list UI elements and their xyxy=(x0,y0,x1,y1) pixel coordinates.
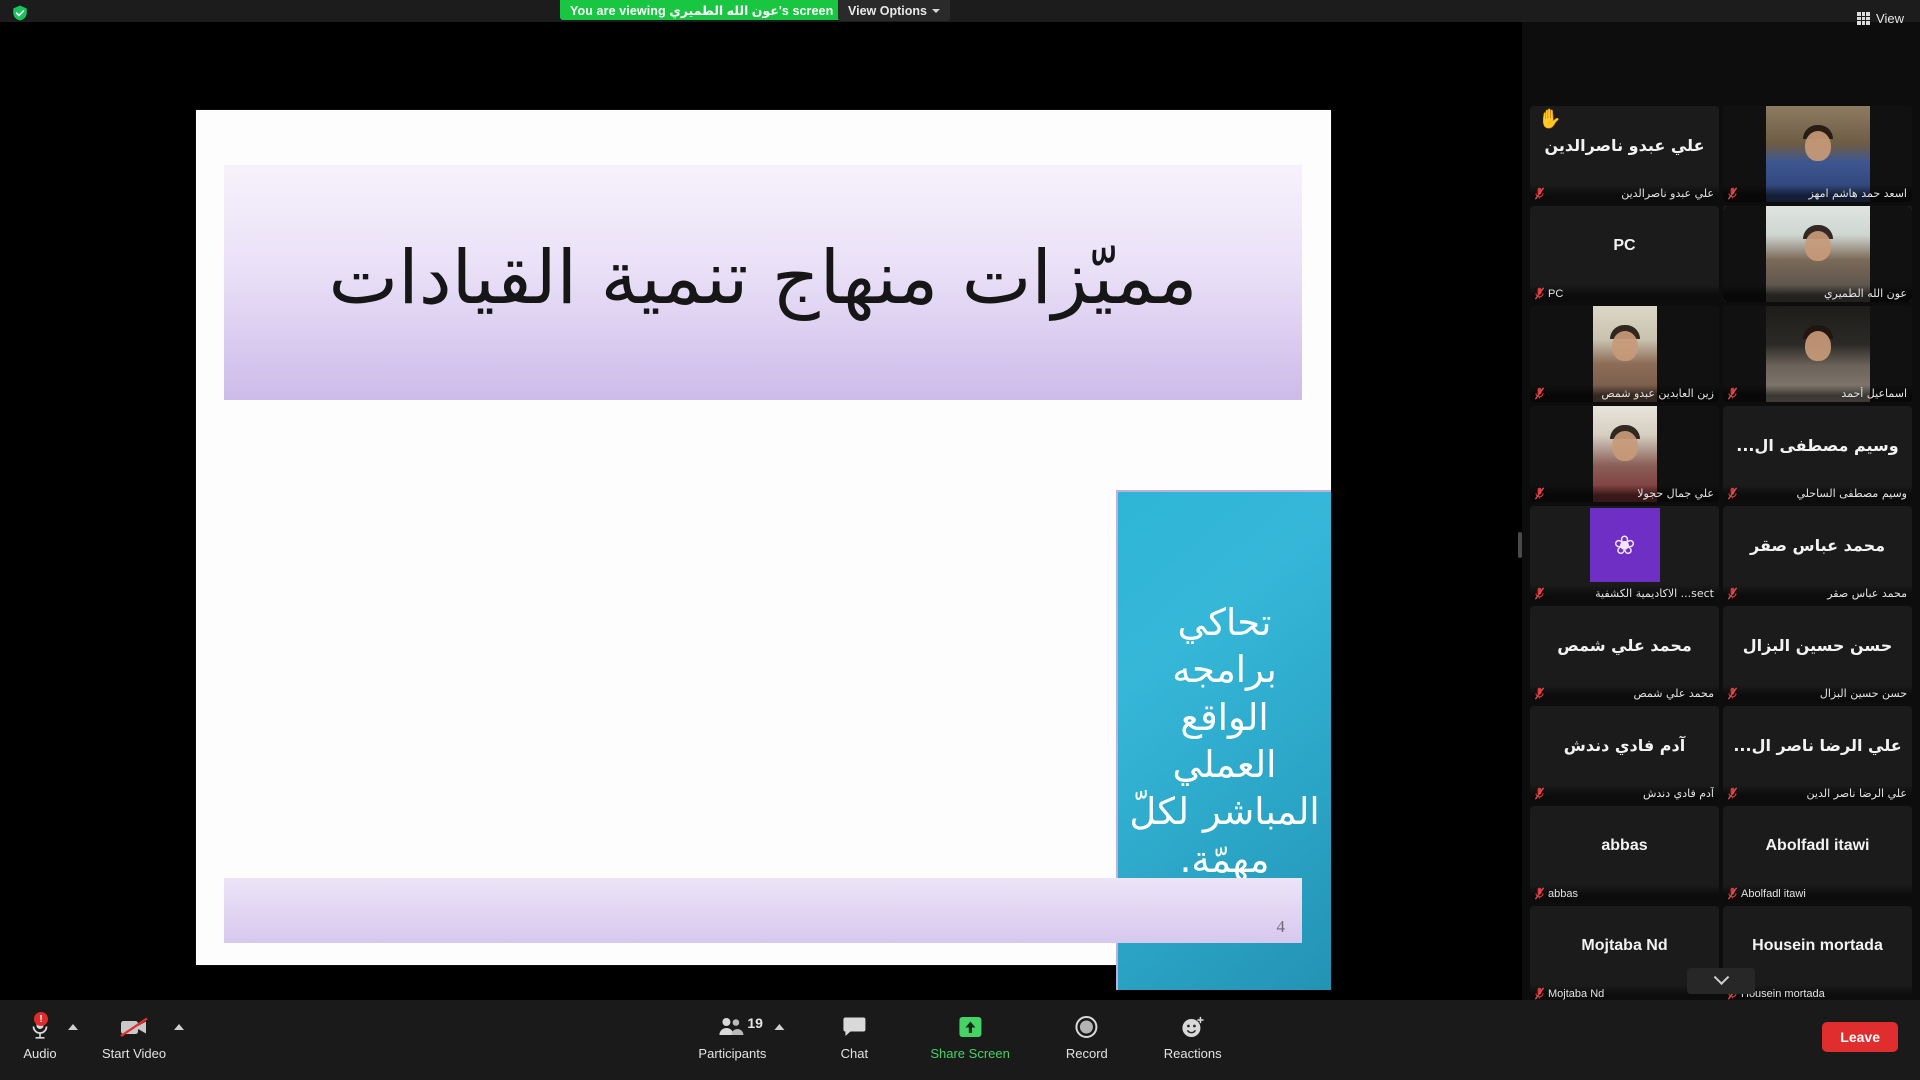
chat-bubble-icon xyxy=(841,1012,867,1042)
microphone-muted-icon xyxy=(1535,787,1544,800)
participants-options-caret-icon[interactable] xyxy=(774,1024,784,1030)
audio-label: Audio xyxy=(23,1046,56,1061)
reactions-smiley-icon xyxy=(1180,1012,1206,1042)
meeting-toolbar: ! Audio Start Video xyxy=(0,1000,1920,1080)
microphone-muted-icon xyxy=(1535,687,1544,700)
slide-callout-text: تحاكي برامجه الواقع العملي المباشر لكلّ … xyxy=(1118,585,1331,897)
avatar-shape xyxy=(1805,231,1831,261)
leave-button[interactable]: Leave xyxy=(1822,1022,1898,1052)
microphone-muted-icon xyxy=(1535,187,1544,200)
microphone-muted-icon xyxy=(1535,587,1544,600)
microphone-muted-icon xyxy=(1728,587,1737,600)
chevron-down-icon xyxy=(932,9,940,13)
participant-tile-grid: علي عبدو ناصرالدين✋علي عبدو ناصرالديناسع… xyxy=(1530,106,1912,1002)
participant-tile-footer: محمد علي شمص xyxy=(1530,685,1719,702)
zoom-meeting-window: You are viewing عون الله الطميري's scree… xyxy=(0,0,1920,1080)
share-screen-button[interactable]: Share Screen xyxy=(924,1008,1016,1065)
view-layout-button[interactable]: View xyxy=(1851,8,1910,29)
scout-academy-logo-icon: ❀ xyxy=(1614,532,1636,558)
participants-count: 19 xyxy=(747,1015,763,1031)
participant-tile[interactable]: ❀sect... الاكاديمية الكشفية xyxy=(1530,506,1719,602)
participant-tile-footer: عون الله الطميري xyxy=(1723,285,1912,302)
participant-name: اسعد حمد هاشم امهز xyxy=(1741,187,1907,200)
participant-name: علي الرضا ناصر الدين xyxy=(1741,787,1907,800)
microphone-muted-icon xyxy=(1535,287,1544,300)
reactions-button[interactable]: Reactions xyxy=(1158,1008,1228,1065)
participant-name: PC xyxy=(1548,288,1714,300)
participant-tile[interactable]: عون الله الطميري xyxy=(1723,206,1912,302)
audio-control-group: ! Audio xyxy=(14,1008,78,1065)
microphone-muted-icon xyxy=(1728,887,1737,900)
audio-options-caret-icon[interactable] xyxy=(68,1024,78,1030)
avatar-shape xyxy=(1805,131,1831,161)
participant-tile[interactable]: محمد عباس صقرمحمد عباس صقر xyxy=(1723,506,1912,602)
top-bar: You are viewing عون الله الطميري's scree… xyxy=(0,0,1920,22)
record-button[interactable]: Record xyxy=(1060,1008,1114,1065)
participant-tile[interactable]: وسيم مصطفى ال...وسيم مصطفى الساحلي xyxy=(1723,406,1912,502)
microphone-muted-icon xyxy=(1535,987,1544,1000)
record-circle-icon xyxy=(1075,1012,1099,1042)
participant-name: abbas xyxy=(1548,888,1714,900)
share-screen-icon xyxy=(956,1012,984,1042)
video-off-icon xyxy=(118,1012,150,1042)
slide-canvas: مميّزات منهاج تنمية القيادات تحاكي برامج… xyxy=(196,110,1331,965)
slide-title-band: مميّزات منهاج تنمية القيادات xyxy=(224,165,1302,400)
microphone-muted-icon xyxy=(1728,787,1737,800)
participant-tile-footer: Abolfadl itawi xyxy=(1723,885,1912,902)
presentation-slide: مميّزات منهاج تنمية القيادات تحاكي برامج… xyxy=(196,110,1331,965)
raised-hand-icon: ✋ xyxy=(1538,110,1562,129)
filmstrip-scroll-down-button[interactable] xyxy=(1687,968,1755,994)
participant-tile[interactable]: زين العابدين عبدو شمص xyxy=(1530,306,1719,402)
view-options-label: View Options xyxy=(848,4,927,18)
participant-tile[interactable]: محمد علي شمصمحمد علي شمص xyxy=(1530,606,1719,702)
avatar-shape xyxy=(1612,431,1638,461)
microphone-muted-icon xyxy=(1728,187,1737,200)
participants-button[interactable]: 19 Participants xyxy=(692,1008,772,1065)
video-control-group: Start Video xyxy=(96,1008,184,1065)
participant-tile-footer: آدم فادي دندش xyxy=(1530,785,1719,802)
microphone-muted-icon xyxy=(1728,687,1737,700)
reactions-label: Reactions xyxy=(1164,1046,1222,1061)
participants-control-group: 19 Participants xyxy=(692,1008,784,1065)
participant-name: sect... الاكاديمية الكشفية xyxy=(1548,587,1714,600)
slide-title: مميّزات منهاج تنمية القيادات xyxy=(224,165,1302,400)
microphone-muted-icon: ! xyxy=(28,1012,52,1042)
record-label: Record xyxy=(1066,1046,1108,1061)
participant-name: Housein mortada xyxy=(1741,988,1907,1000)
microphone-muted-icon xyxy=(1728,487,1737,500)
participant-tile-footer: sect... الاكاديمية الكشفية xyxy=(1530,585,1719,602)
avatar-shape xyxy=(1805,331,1831,361)
participant-tile-footer: علي جمال حجولا xyxy=(1530,485,1719,502)
participant-name: محمد علي شمص xyxy=(1548,687,1714,700)
video-options-caret-icon[interactable] xyxy=(174,1024,184,1030)
participant-tile[interactable]: حسن حسين البزالحسن حسين البزال xyxy=(1723,606,1912,702)
participant-name: Abolfadl itawi xyxy=(1741,888,1907,900)
chat-label: Chat xyxy=(841,1046,868,1061)
participant-tile[interactable]: علي جمال حجولا xyxy=(1530,406,1719,502)
microphone-muted-icon xyxy=(1728,387,1737,400)
participant-tile-footer: محمد عباس صقر xyxy=(1723,585,1912,602)
participant-name: اسماعيل أحمد xyxy=(1741,387,1907,400)
participant-name: علي عبدو ناصرالدين xyxy=(1548,187,1714,200)
view-layout-label: View xyxy=(1876,11,1904,26)
participant-tile-footer: PC xyxy=(1530,285,1719,302)
start-video-button[interactable]: Start Video xyxy=(96,1008,172,1065)
microphone-muted-icon xyxy=(1535,487,1544,500)
slide-number: 4 xyxy=(1277,917,1286,937)
view-options-button[interactable]: View Options xyxy=(838,0,950,21)
participant-tile[interactable]: اسماعيل أحمد xyxy=(1723,306,1912,402)
participant-logo-avatar: ❀ xyxy=(1590,508,1660,582)
chat-button[interactable]: Chat xyxy=(828,1008,880,1065)
viewing-screen-banner-text: You are viewing عون الله الطميري's scree… xyxy=(570,3,833,18)
participants-icon: 19 xyxy=(717,1012,747,1042)
participant-name: عون الله الطميري xyxy=(1728,287,1907,300)
slide-footer-band xyxy=(224,878,1302,943)
participant-tile[interactable]: abbasabbas xyxy=(1530,806,1719,902)
grid-icon xyxy=(1857,12,1870,25)
avatar-shape xyxy=(1612,331,1638,361)
participant-tile[interactable]: علي الرضا ناصر ال...علي الرضا ناصر الدين xyxy=(1723,706,1912,802)
participant-tile[interactable]: علي عبدو ناصرالدين✋علي عبدو ناصرالدين xyxy=(1530,106,1719,202)
share-screen-label: Share Screen xyxy=(930,1046,1010,1061)
participant-tile[interactable]: Abolfadl itawiAbolfadl itawi xyxy=(1723,806,1912,902)
participant-tile-footer: حسن حسين البزال xyxy=(1723,685,1912,702)
audio-alert-badge: ! xyxy=(34,1012,48,1026)
participant-name: محمد عباس صقر xyxy=(1741,587,1907,600)
participant-tile-footer: اسماعيل أحمد xyxy=(1723,385,1912,402)
audio-button[interactable]: ! Audio xyxy=(14,1008,66,1065)
participant-filmstrip[interactable]: علي عبدو ناصرالدين✋علي عبدو ناصرالديناسع… xyxy=(1522,22,1920,1000)
participant-tile-footer: abbas xyxy=(1530,885,1719,902)
viewing-screen-banner: You are viewing عون الله الطميري's scree… xyxy=(560,0,843,20)
participant-name: وسيم مصطفى الساحلي xyxy=(1741,487,1907,500)
participant-name: زين العابدين عبدو شمص xyxy=(1548,387,1714,400)
participant-name: آدم فادي دندش xyxy=(1548,787,1714,800)
encryption-shield-icon[interactable] xyxy=(10,4,30,22)
microphone-muted-icon xyxy=(1535,887,1544,900)
start-video-label: Start Video xyxy=(102,1046,166,1061)
shared-screen-stage[interactable]: مميّزات منهاج تنمية القيادات تحاكي برامج… xyxy=(0,22,1522,1000)
participant-name: حسن حسين البزال xyxy=(1741,687,1907,700)
participant-tile[interactable]: آدم فادي دندشآدم فادي دندش xyxy=(1530,706,1719,802)
participant-name: علي جمال حجولا xyxy=(1548,487,1714,500)
participants-label: Participants xyxy=(698,1046,766,1061)
participant-tile-footer: وسيم مصطفى الساحلي xyxy=(1723,485,1912,502)
participant-tile-footer: اسعد حمد هاشم امهز xyxy=(1723,185,1912,202)
participant-tile-footer: زين العابدين عبدو شمص xyxy=(1530,385,1719,402)
participant-tile-footer: علي الرضا ناصر الدين xyxy=(1723,785,1912,802)
participant-tile-footer: علي عبدو ناصرالدين xyxy=(1530,185,1719,202)
microphone-muted-icon xyxy=(1535,387,1544,400)
participant-tile[interactable]: PCPC xyxy=(1530,206,1719,302)
participant-tile[interactable]: اسعد حمد هاشم امهز xyxy=(1723,106,1912,202)
chevron-down-icon xyxy=(1713,969,1729,985)
